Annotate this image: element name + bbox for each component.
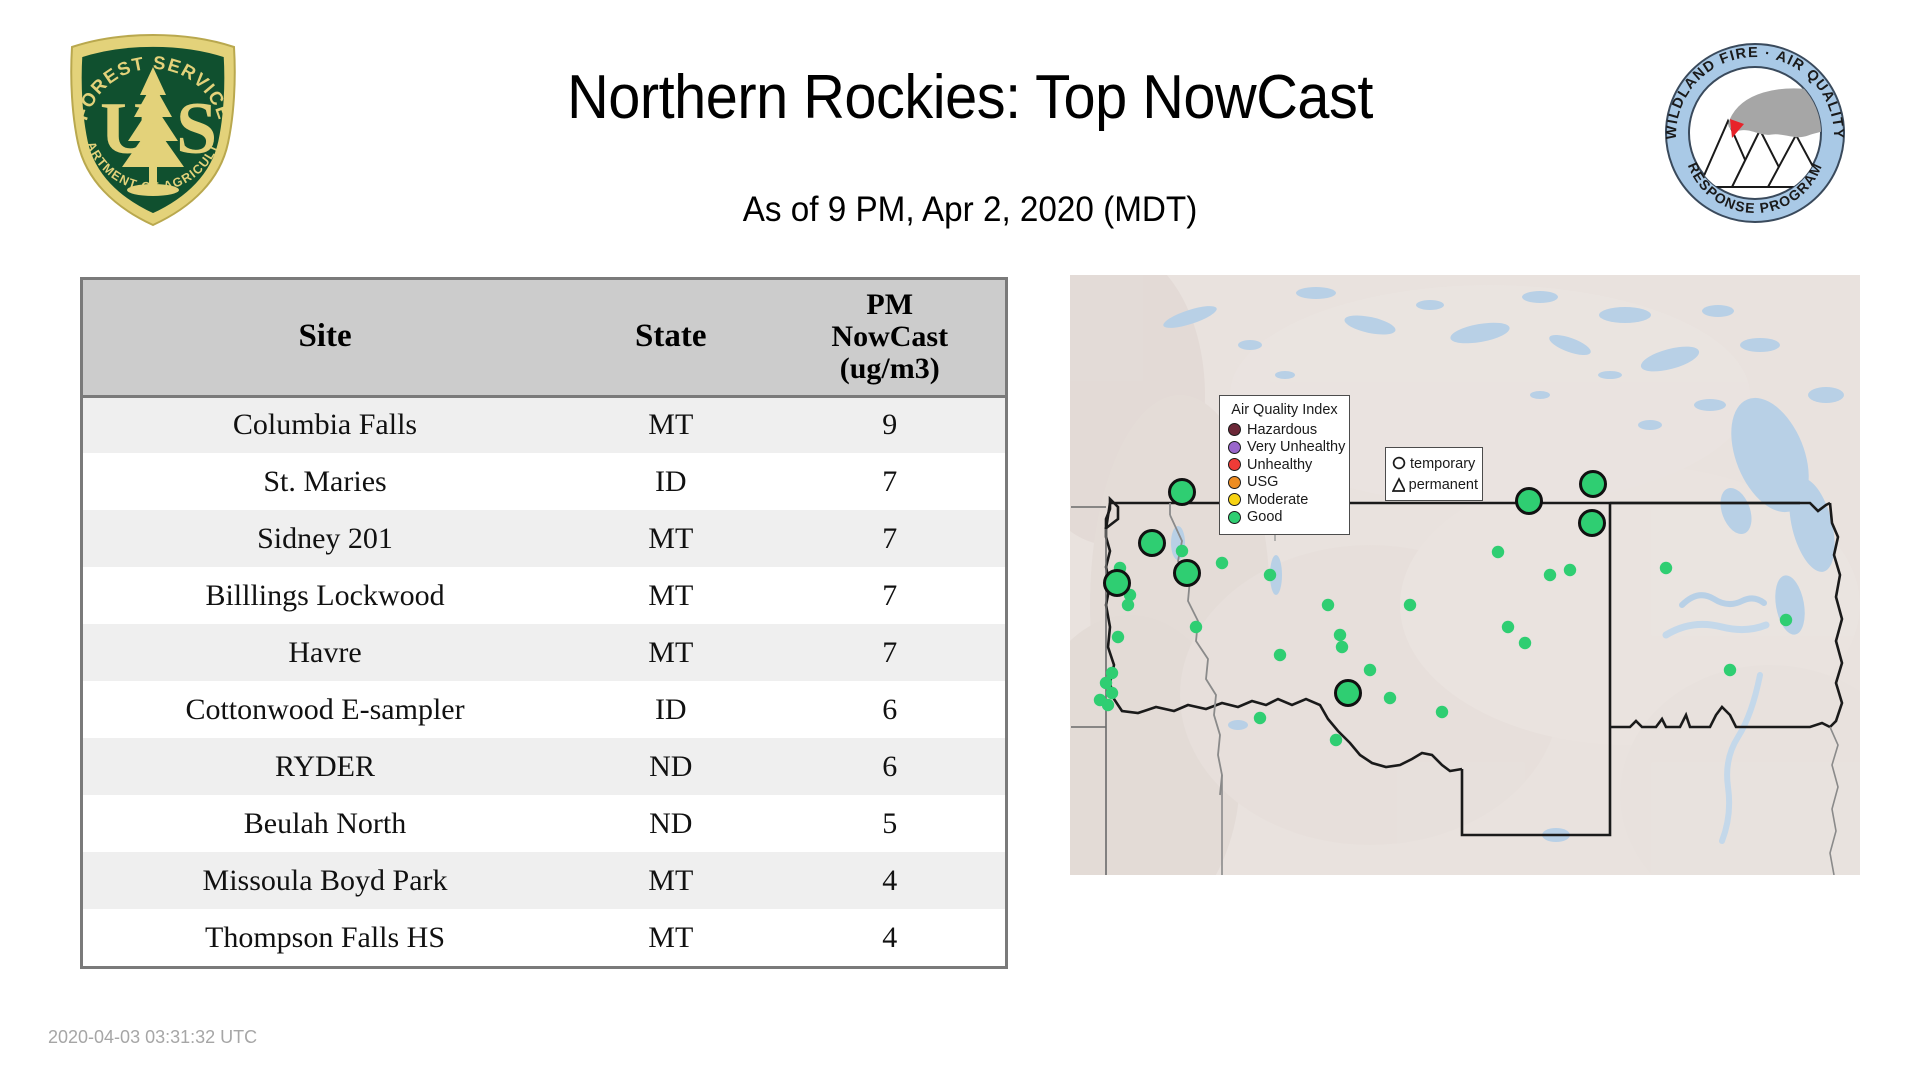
- monitor-dot-small[interactable]: [1544, 569, 1556, 581]
- monitor-dot-small[interactable]: [1112, 631, 1124, 643]
- monitor-dot-small[interactable]: [1502, 621, 1514, 633]
- circle-outline-icon: [1392, 455, 1406, 473]
- aqi-swatch-icon: [1228, 476, 1241, 489]
- pm-value-cell: 4: [774, 852, 1005, 909]
- monitor-map[interactable]: Air Quality Index HazardousVery Unhealth…: [1070, 275, 1860, 875]
- monitor-dot-small[interactable]: [1336, 641, 1348, 653]
- aqi-legend-label: Moderate: [1247, 493, 1308, 508]
- legend-row-temporary: temporary: [1392, 453, 1478, 474]
- monitor-dot-small[interactable]: [1564, 564, 1576, 576]
- triangle-outline-icon: [1392, 476, 1405, 494]
- pm-value-cell: 6: [774, 738, 1005, 795]
- aqi-swatch-icon: [1228, 441, 1241, 454]
- monitor-dot-small[interactable]: [1264, 569, 1276, 581]
- monitor-dot-large[interactable]: [1581, 472, 1606, 497]
- wfaqrp-logo: WILDLAND FIRE · AIR QUALITY RESPONSE PRO…: [1652, 32, 1857, 232]
- state-cell: MT: [567, 852, 774, 909]
- monitor-dot-small[interactable]: [1724, 664, 1736, 676]
- monitor-dot-small[interactable]: [1176, 545, 1188, 557]
- pm-value-cell: 4: [774, 909, 1005, 966]
- monitor-dot-small[interactable]: [1334, 629, 1346, 641]
- state-cell: MT: [567, 510, 774, 567]
- pm-value-cell: 9: [774, 396, 1005, 453]
- table-row: HavreMT7: [83, 624, 1005, 681]
- site-cell: St. Maries: [83, 453, 567, 510]
- pm-value-cell: 7: [774, 624, 1005, 681]
- state-cell: MT: [567, 624, 774, 681]
- aqi-swatch-icon: [1228, 493, 1241, 506]
- monitor-dot-small[interactable]: [1190, 621, 1202, 633]
- aqi-legend-row: Good: [1228, 509, 1341, 527]
- site-cell: Columbia Falls: [83, 396, 567, 453]
- nowcast-table-container: Site State PM NowCast (ug/m3) Columbia F…: [80, 277, 1008, 969]
- column-header-site: Site: [83, 280, 567, 396]
- monitor-dot-small[interactable]: [1274, 649, 1286, 661]
- table-row: Cottonwood E-samplerID6: [83, 681, 1005, 738]
- monitor-dot-small[interactable]: [1404, 599, 1416, 611]
- pm-header-line-1: PM: [774, 289, 1005, 321]
- forest-service-logo: U S FOREST SERVICE DEPARTMENT OF AGRICUL…: [48, 25, 258, 235]
- aqi-swatch-icon: [1228, 511, 1241, 524]
- site-cell: Havre: [83, 624, 567, 681]
- monitor-dot-large[interactable]: [1580, 511, 1605, 536]
- monitor-dot-large[interactable]: [1336, 681, 1361, 706]
- aqi-legend-row: Unhealthy: [1228, 456, 1341, 474]
- table-row: Thompson Falls HSMT4: [83, 909, 1005, 966]
- table-row: Missoula Boyd ParkMT4: [83, 852, 1005, 909]
- state-cell: ID: [567, 681, 774, 738]
- monitor-dot-small[interactable]: [1436, 706, 1448, 718]
- aqi-legend-label: Good: [1247, 510, 1282, 525]
- monitor-dot-small[interactable]: [1660, 562, 1672, 574]
- monitor-dot-small[interactable]: [1106, 687, 1118, 699]
- site-cell: Cottonwood E-sampler: [83, 681, 567, 738]
- monitor-dot-small[interactable]: [1492, 546, 1504, 558]
- monitor-dot-small[interactable]: [1322, 599, 1334, 611]
- state-cell: MT: [567, 909, 774, 966]
- monitor-dot-large[interactable]: [1517, 489, 1542, 514]
- page-subtitle: As of 9 PM, Apr 2, 2020 (MDT): [334, 190, 1607, 230]
- monitor-dot-small[interactable]: [1780, 614, 1792, 626]
- pm-value-cell: 7: [774, 567, 1005, 624]
- pm-value-cell: 7: [774, 510, 1005, 567]
- aqi-legend-row: Moderate: [1228, 491, 1341, 509]
- pm-value-cell: 5: [774, 795, 1005, 852]
- site-cell: Billlings Lockwood: [83, 567, 567, 624]
- monitor-dot-small[interactable]: [1384, 692, 1396, 704]
- aqi-legend-row: USG: [1228, 474, 1341, 492]
- aqi-swatch-icon: [1228, 458, 1241, 471]
- page-header: U S FOREST SERVICE DEPARTMENT OF AGRICUL…: [0, 0, 1920, 225]
- aqi-legend-title: Air Quality Index: [1228, 402, 1341, 418]
- table-row: St. MariesID7: [83, 453, 1005, 510]
- site-cell: RYDER: [83, 738, 567, 795]
- aqi-legend-label: Hazardous: [1247, 423, 1317, 438]
- generation-timestamp: 2020-04-03 03:31:32 UTC: [48, 1027, 257, 1048]
- monitor-dot-small[interactable]: [1254, 712, 1266, 724]
- legend-row-permanent: permanent: [1392, 474, 1478, 495]
- aqi-legend-label: USG: [1247, 475, 1278, 490]
- state-cell: ID: [567, 453, 774, 510]
- monitor-dot-small[interactable]: [1122, 599, 1134, 611]
- legend-label-temporary: temporary: [1410, 456, 1475, 472]
- column-header-pm-nowcast: PM NowCast (ug/m3): [774, 280, 1005, 396]
- aqi-legend-row: Hazardous: [1228, 421, 1341, 439]
- monitor-type-legend: temporary permanent: [1385, 447, 1483, 501]
- state-cell: MT: [567, 567, 774, 624]
- nowcast-table: Site State PM NowCast (ug/m3) Columbia F…: [83, 280, 1005, 966]
- monitor-dot-small[interactable]: [1216, 557, 1228, 569]
- monitor-dot-large[interactable]: [1175, 561, 1200, 586]
- aqi-legend: Air Quality Index HazardousVery Unhealth…: [1219, 395, 1350, 535]
- column-header-state: State: [567, 280, 774, 396]
- table-body: Columbia FallsMT9St. MariesID7Sidney 201…: [83, 396, 1005, 966]
- table-row: RYDERND6: [83, 738, 1005, 795]
- page-title: Northern Rockies: Top NowCast: [347, 62, 1593, 133]
- table-row: Sidney 201MT7: [83, 510, 1005, 567]
- aqi-swatch-icon: [1228, 423, 1241, 436]
- monitor-dot-small[interactable]: [1102, 699, 1114, 711]
- monitor-dot-large[interactable]: [1140, 531, 1165, 556]
- state-cell: ND: [567, 795, 774, 852]
- monitor-dot-large[interactable]: [1105, 571, 1130, 596]
- monitor-dot-small[interactable]: [1519, 637, 1531, 649]
- pm-value-cell: 7: [774, 453, 1005, 510]
- site-cell: Beulah North: [83, 795, 567, 852]
- aqi-legend-label: Very Unhealthy: [1247, 440, 1345, 455]
- site-cell: Missoula Boyd Park: [83, 852, 567, 909]
- table-row: Beulah NorthND5: [83, 795, 1005, 852]
- legend-label-permanent: permanent: [1409, 477, 1478, 493]
- monitor-dot-large[interactable]: [1170, 480, 1195, 505]
- aqi-legend-row: Very Unhealthy: [1228, 439, 1341, 457]
- monitor-dot-small[interactable]: [1330, 734, 1342, 746]
- pm-header-line-2: NowCast: [774, 321, 1005, 353]
- aqi-legend-label: Unhealthy: [1247, 458, 1312, 473]
- state-cell: ND: [567, 738, 774, 795]
- pm-value-cell: 6: [774, 681, 1005, 738]
- table-row: Columbia FallsMT9: [83, 396, 1005, 453]
- state-cell: MT: [567, 396, 774, 453]
- monitor-dot-small[interactable]: [1364, 664, 1376, 676]
- table-row: Billlings LockwoodMT7: [83, 567, 1005, 624]
- site-cell: Sidney 201: [83, 510, 567, 567]
- pm-header-line-3: (ug/m3): [774, 353, 1005, 385]
- site-cell: Thompson Falls HS: [83, 909, 567, 966]
- table-header-row: Site State PM NowCast (ug/m3): [83, 280, 1005, 396]
